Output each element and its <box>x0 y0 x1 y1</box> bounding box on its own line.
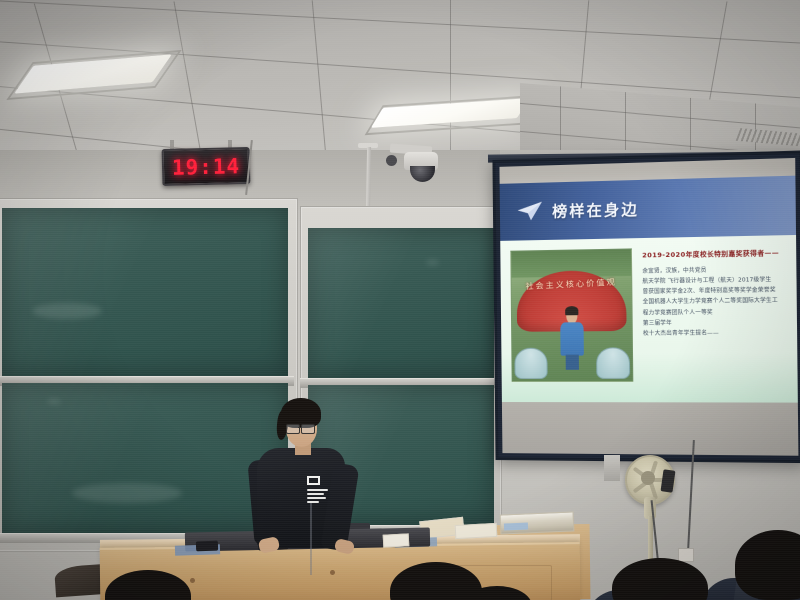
paper-plane-icon <box>517 201 543 222</box>
clock-time-display: 19:14 <box>172 154 241 180</box>
glasses-bridge <box>298 427 302 428</box>
slide-text-column: 2019-2020年度校长特别嘉奖获得者—— 余宜贤，汉族，中共党员 航天学院 … <box>632 241 789 398</box>
presenter-glasses-left <box>286 424 300 434</box>
classroom-scene: 19:14 <box>0 0 800 600</box>
photo-subject-person <box>560 308 583 368</box>
jacket-text-patch <box>307 476 329 506</box>
photo-subject-legs <box>566 355 579 370</box>
slide-header-title: 榜样在身边 <box>552 198 639 221</box>
fan-hub <box>641 471 655 485</box>
presenter-left-hand <box>258 536 280 554</box>
photo-planter-right <box>596 348 630 379</box>
photo-planter-left <box>515 348 548 379</box>
presenter-at-lectern <box>245 398 355 558</box>
jacket-zipper <box>310 503 312 575</box>
screen-blank-area <box>502 402 799 456</box>
slide-award-title: 2019-2020年度校长特别嘉奖获得者—— <box>642 247 788 259</box>
book-blue-cover[interactable] <box>504 522 528 530</box>
camera-pivot-knob <box>386 155 397 166</box>
board-glare <box>2 208 288 376</box>
patch-logo-box <box>307 476 320 485</box>
award-recipient-photo: 社会主义核心价值观 <box>510 248 633 382</box>
slide-body-line: 全国机器人大学生力学竞赛个人二等奖国际大学生工 <box>643 296 789 308</box>
presenter-right-hand <box>334 538 356 555</box>
projection-screen: 榜样在身边 社会主义核心价值观 <box>492 150 800 463</box>
loose-papers[interactable] <box>455 523 498 539</box>
ceiling-air-vent <box>736 128 800 147</box>
screen-roller-mount <box>604 455 620 481</box>
screen-surface: 榜样在身边 社会主义核心价值观 <box>499 158 798 456</box>
chalkboard-panel-upper-left <box>2 208 288 376</box>
chalkboard-panel-upper-right <box>308 228 494 378</box>
console-mouse[interactable] <box>196 541 218 552</box>
slide-header-band: 榜样在身边 <box>500 176 796 241</box>
slide-body: 社会主义核心价值观 2019-2020年度校长特别嘉奖获得者—— 余宜贤，汉族，… <box>500 235 798 402</box>
board-glare <box>308 228 494 378</box>
led-wall-clock: 19:14 <box>162 147 251 186</box>
photo-subject-shirt <box>561 322 584 356</box>
presentation-slide: 榜样在身边 社会主义核心价值观 <box>500 176 798 402</box>
slide-body-line: 校十大杰出青年学生提名—— <box>643 328 789 340</box>
photo-subject-hair <box>565 306 578 315</box>
presenter-glasses-right <box>301 424 315 434</box>
paper-note[interactable] <box>383 533 410 547</box>
